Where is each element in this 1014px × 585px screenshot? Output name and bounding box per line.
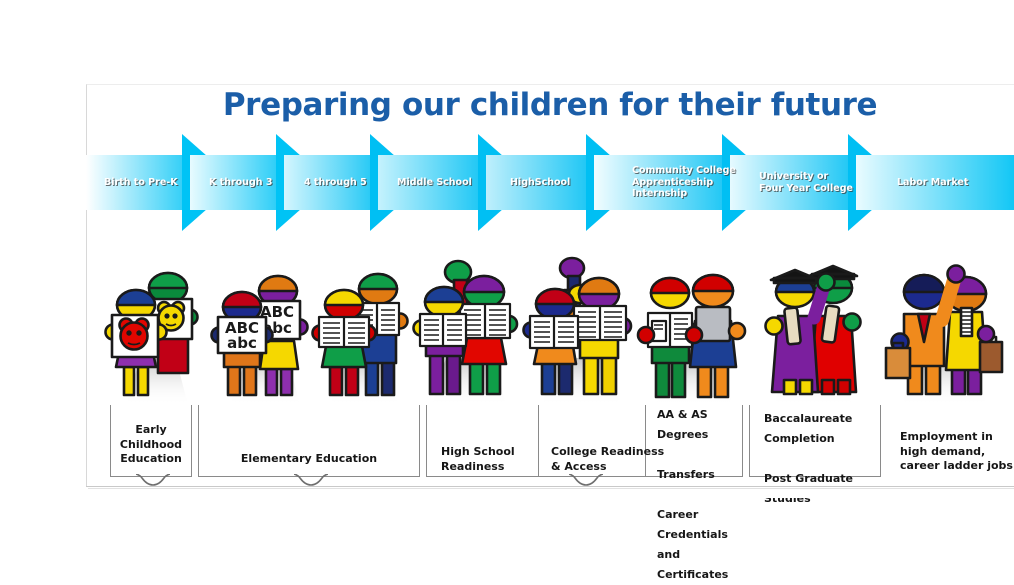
caption-box-early-childhood-education: Early Childhood Education xyxy=(110,405,192,477)
figure-group-graduates-with-diplomas xyxy=(752,250,876,405)
arrow-label-4-through-5: 4 through 5 xyxy=(304,155,367,210)
arrow-label-university: University or Four Year College xyxy=(759,155,853,210)
figure-group-high-school-readers xyxy=(520,250,642,405)
caption-text-elementary-education: Elementary Education xyxy=(199,452,419,467)
pathway-arrow-band: Birth to Pre-K K through 3 4 through 5 M… xyxy=(86,155,1014,210)
arrow-label-text: K through 3 xyxy=(209,177,272,189)
caption-divider xyxy=(538,405,539,477)
figure-group-children-reading-books xyxy=(308,255,418,405)
arrow-label-text: Birth to Pre-K xyxy=(104,177,178,189)
caption-box-secondary-and-community-college: High School Readiness College Readiness … xyxy=(426,405,743,477)
outcome-caption-row: Early Childhood Education Elementary Edu… xyxy=(86,405,1014,487)
figure-group-preschoolers-with-picture-cards xyxy=(102,255,212,405)
figure-group-college-students-with-tablet xyxy=(636,255,752,405)
caption-box-employment: Employment in high demand, career ladder… xyxy=(886,405,1014,477)
arrow-label-labor-market: Labor Market xyxy=(897,155,968,210)
arrow-label-text: Middle School xyxy=(397,177,472,189)
figure-group-middle-school-readers xyxy=(410,250,528,405)
arrow-label-high-school: HighSchool xyxy=(510,155,570,210)
caption-box-elementary-education: Elementary Education xyxy=(198,405,420,477)
figure-group-professionals-with-briefcases xyxy=(880,250,1010,405)
arrow-label-text: Labor Market xyxy=(897,177,968,189)
infographic-canvas: Preparing our children for their future xyxy=(0,0,1014,497)
caption-text-high-school-readiness: High School Readiness xyxy=(441,445,515,474)
caption-text-college-readiness-access: College Readiness & Access xyxy=(551,445,664,474)
arrow-label-middle-school: Middle School xyxy=(397,155,472,210)
arrow-label-text: HighSchool xyxy=(510,177,570,189)
bottom-rule xyxy=(86,486,1014,487)
caption-text-early-childhood-education: Early Childhood Education xyxy=(111,423,191,467)
caption-box-university-outcomes: Baccalaureate Completion Post Graduate S… xyxy=(749,405,881,477)
caption-text-employment: Employment in high demand, career ladder… xyxy=(900,430,1013,474)
arrow-label-birth-pre-k: Birth to Pre-K xyxy=(104,155,178,210)
arrow-label-text: University or Four Year College xyxy=(759,171,853,194)
arrow-label-k-through-3: K through 3 xyxy=(209,155,272,210)
arrow-label-text: 4 through 5 xyxy=(304,177,367,189)
arrow-label-community-college: Community College Apprenticeship Interns… xyxy=(632,155,736,210)
svg-text:abc: abc xyxy=(227,334,257,352)
figure-group-children-with-abc-cards: ABC abc ABC abc xyxy=(208,255,320,405)
figure-row: ABC abc ABC abc xyxy=(86,250,1014,405)
arrow-label-text: Community College Apprenticeship Interns… xyxy=(632,165,736,200)
page-title: Preparing our children for their future xyxy=(86,82,1014,128)
